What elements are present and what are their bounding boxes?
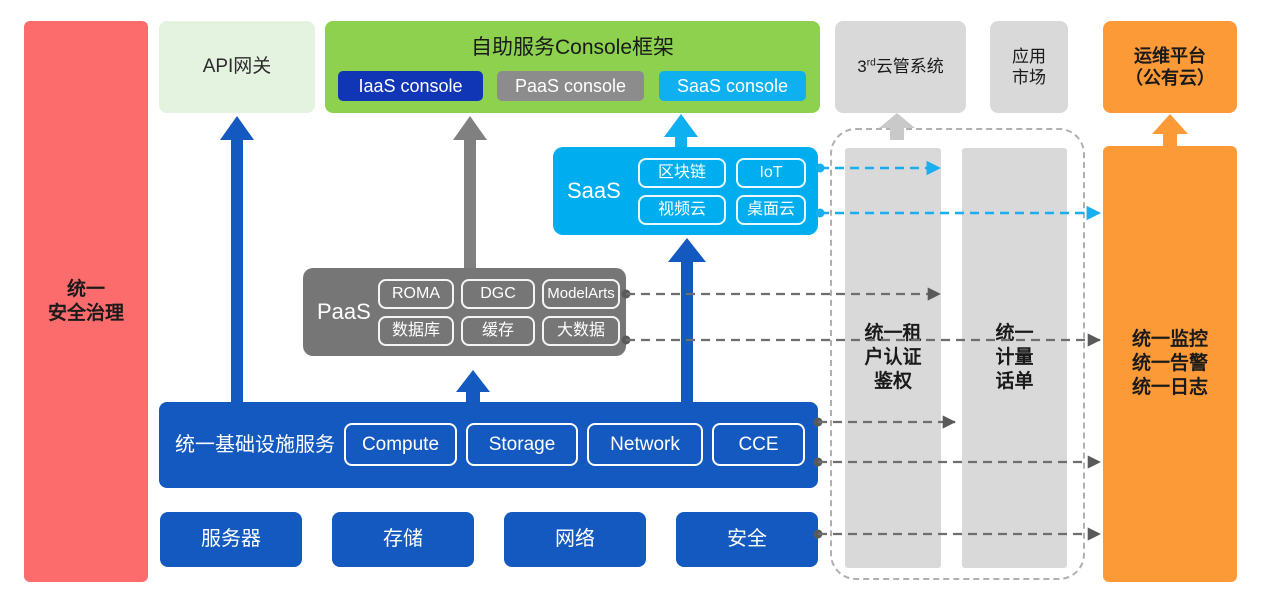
arrow-infra-to-api-gateway xyxy=(220,116,254,402)
infra-item-network[interactable]: Network xyxy=(587,423,703,466)
infrastructure-bar: 统一基础设施服务 Compute Storage Network CCE xyxy=(159,402,818,488)
resource-box-storage[interactable]: 存储 xyxy=(332,512,474,567)
paas-item-roma-label: ROMA xyxy=(392,284,440,304)
paas-item-modelarts[interactable]: ModelArts xyxy=(542,279,620,309)
arrow-ops-column-to-platform xyxy=(1152,114,1188,146)
console-chip-iaas-label: IaaS console xyxy=(358,75,462,98)
resource-box-network[interactable]: 网络 xyxy=(504,512,646,567)
paas-layer: PaaS ROMA DGC ModelArts 数据库 缓存 大数据 xyxy=(303,268,626,356)
ops-services-column: 统一监控 统一告警 统一日志 xyxy=(1103,146,1237,582)
unified-metering-column: 统一 计量 话单 xyxy=(962,148,1067,568)
paas-item-cache-label: 缓存 xyxy=(482,321,514,341)
paas-item-bigdata[interactable]: 大数据 xyxy=(542,316,620,346)
paas-item-dgc-label: DGC xyxy=(480,284,516,304)
console-chip-iaas[interactable]: IaaS console xyxy=(338,71,483,101)
paas-item-dgc[interactable]: DGC xyxy=(461,279,535,309)
unified-tenant-auth-column: 统一租 户认证 鉴权 xyxy=(845,148,941,568)
resource-box-security[interactable]: 安全 xyxy=(676,512,818,567)
paas-item-bigdata-label: 大数据 xyxy=(557,321,605,341)
api-gateway-label: API网关 xyxy=(203,55,272,79)
arrow-infra-to-saas xyxy=(668,238,706,402)
saas-layer-label: SaaS xyxy=(567,147,621,235)
infra-item-storage[interactable]: Storage xyxy=(466,423,578,466)
saas-item-desktop-cloud-label: 桌面云 xyxy=(747,200,795,220)
paas-item-database-label: 数据库 xyxy=(392,321,440,341)
resource-box-storage-label: 存储 xyxy=(383,527,423,552)
unified-tenant-auth-label: 统一租 户认证 鉴权 xyxy=(864,322,921,393)
architecture-diagram: 统一 安全治理 API网关 自助服务Console框架 IaaS console… xyxy=(0,0,1265,605)
saas-item-video-cloud[interactable]: 视频云 xyxy=(638,195,726,225)
saas-item-blockchain-label: 区块链 xyxy=(658,163,706,183)
paas-item-roma[interactable]: ROMA xyxy=(378,279,454,309)
infra-item-compute[interactable]: Compute xyxy=(344,423,457,466)
resource-box-server[interactable]: 服务器 xyxy=(160,512,302,567)
saas-item-blockchain[interactable]: 区块链 xyxy=(638,158,726,188)
ops-platform-box[interactable]: 运维平台 （公有云） xyxy=(1103,21,1237,113)
paas-item-modelarts-label: ModelArts xyxy=(547,285,615,304)
security-pillar-label: 统一 安全治理 xyxy=(48,278,124,326)
ops-services-label: 统一监控 统一告警 统一日志 xyxy=(1132,328,1208,399)
paas-item-cache[interactable]: 缓存 xyxy=(461,316,535,346)
infra-item-network-label: Network xyxy=(610,433,680,457)
third-party-cloud-mgmt-box[interactable]: 3rd云管系统 xyxy=(835,21,966,113)
ops-platform-label: 运维平台 （公有云） xyxy=(1125,45,1215,90)
resource-box-server-label: 服务器 xyxy=(201,527,261,552)
saas-item-iot-label: IoT xyxy=(759,163,782,183)
paas-layer-label: PaaS xyxy=(317,268,371,356)
saas-item-iot[interactable]: IoT xyxy=(736,158,806,188)
third-party-cloud-mgmt-label: 3rd云管系统 xyxy=(857,56,944,77)
unified-metering-label: 统一 计量 话单 xyxy=(995,322,1033,393)
infra-item-storage-label: Storage xyxy=(489,433,556,457)
saas-item-desktop-cloud[interactable]: 桌面云 xyxy=(736,195,806,225)
infra-item-compute-label: Compute xyxy=(362,433,439,457)
console-chip-paas-label: PaaS console xyxy=(515,75,626,98)
saas-layer: SaaS 区块链 IoT 视频云 桌面云 xyxy=(553,147,818,235)
console-chip-saas-label: SaaS console xyxy=(677,75,788,98)
console-chip-paas[interactable]: PaaS console xyxy=(497,71,644,101)
infra-item-cce[interactable]: CCE xyxy=(712,423,805,466)
console-frame-title: 自助服务Console框架 xyxy=(325,35,820,61)
arrow-infra-to-paas xyxy=(456,370,490,402)
app-market-box[interactable]: 应用 市场 xyxy=(990,21,1068,113)
superscript-rd: rd xyxy=(867,58,876,69)
console-frame: 自助服务Console框架 IaaS console PaaS console … xyxy=(325,21,820,113)
infrastructure-label: 统一基础设施服务 xyxy=(175,402,335,488)
paas-item-database[interactable]: 数据库 xyxy=(378,316,454,346)
saas-item-video-cloud-label: 视频云 xyxy=(658,200,706,220)
console-chip-saas[interactable]: SaaS console xyxy=(659,71,806,101)
arrow-saas-to-console xyxy=(664,114,698,147)
security-pillar: 统一 安全治理 xyxy=(24,21,148,582)
arrow-paas-to-console xyxy=(453,116,487,268)
api-gateway-box[interactable]: API网关 xyxy=(159,21,315,113)
app-market-label: 应用 市场 xyxy=(1012,46,1046,89)
infra-item-cce-label: CCE xyxy=(738,433,778,457)
resource-box-network-label: 网络 xyxy=(555,527,595,552)
resource-box-security-label: 安全 xyxy=(727,527,767,552)
